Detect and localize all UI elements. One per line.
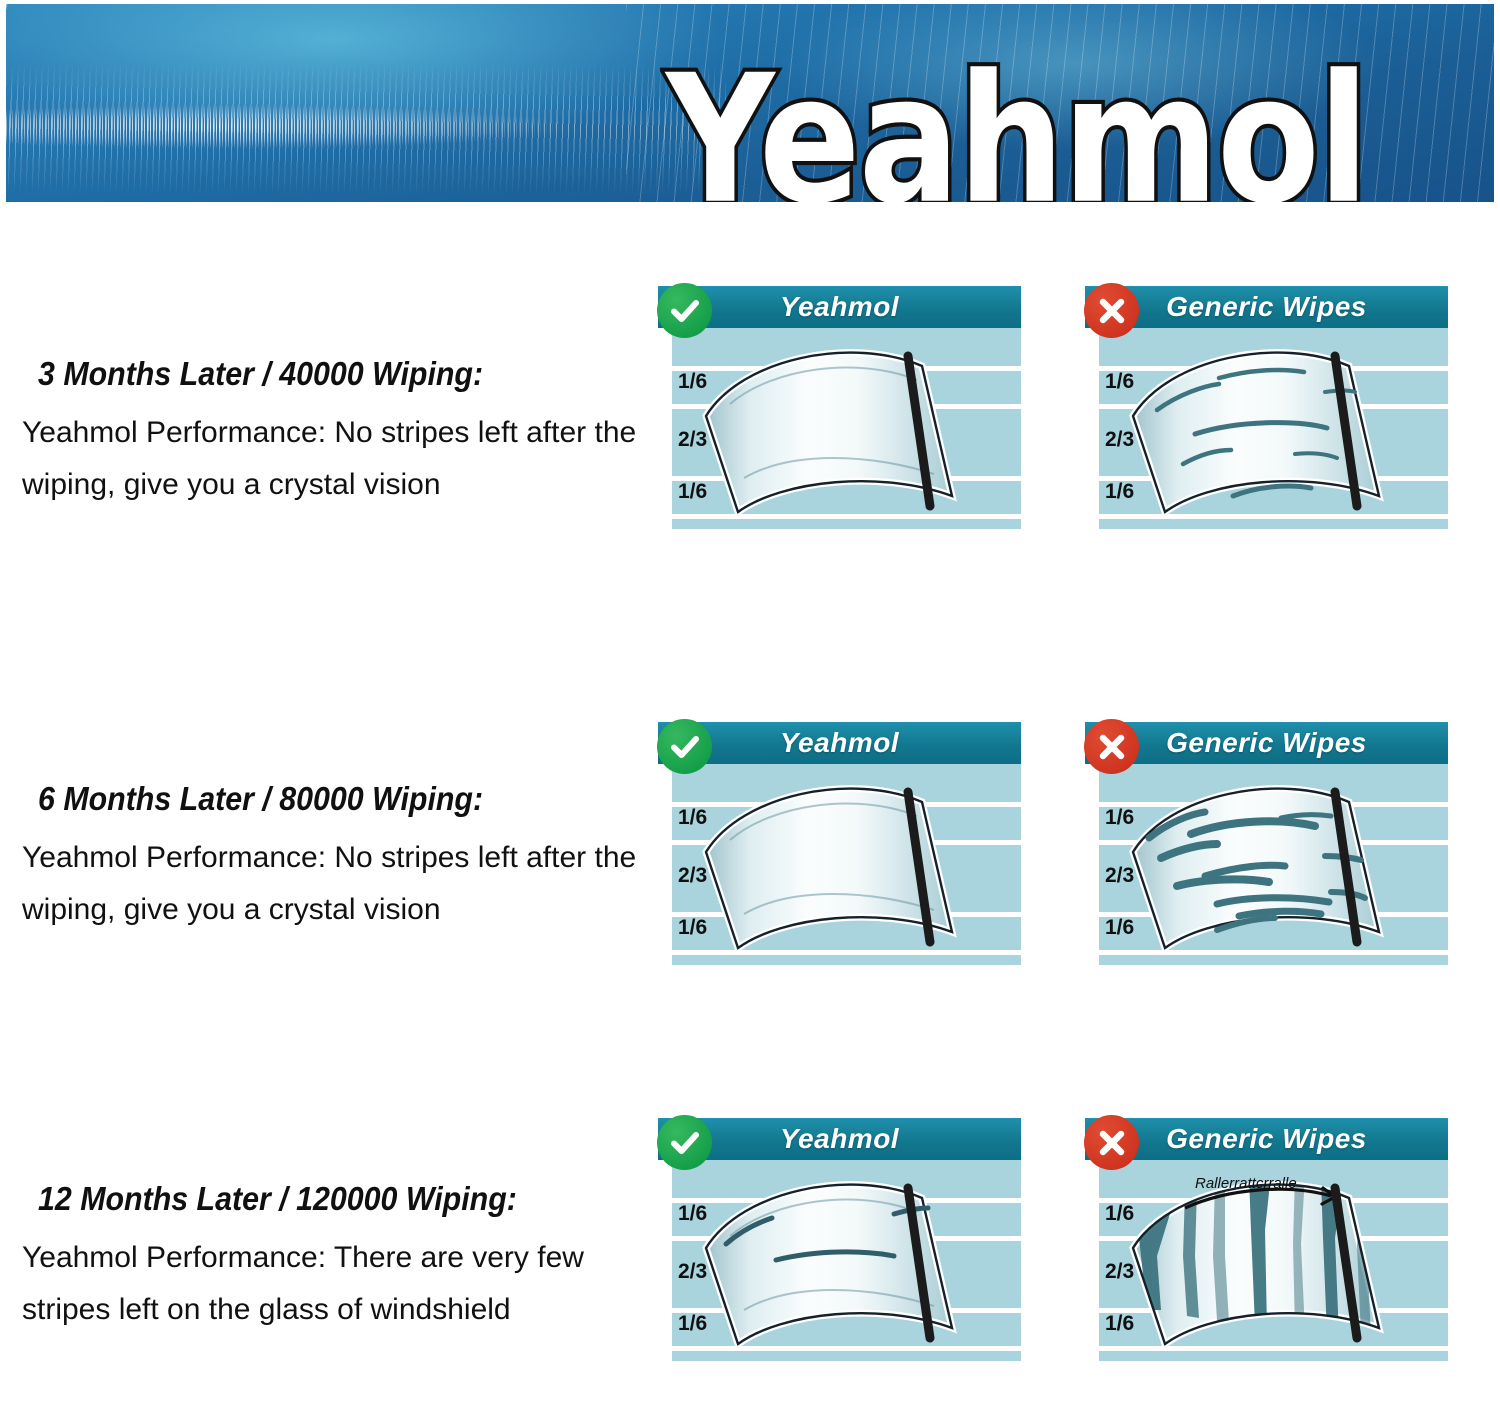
waveform-icon: [6, 92, 706, 162]
panel-title: Generic Wipes: [1085, 1118, 1448, 1160]
row-text-block: 6 Months Later / 80000 Wiping: Yeahmol P…: [22, 780, 672, 935]
check-icon: [657, 283, 712, 338]
panel-title: Yeahmol: [658, 722, 1021, 764]
windshield-wipe-arc: [672, 1160, 1021, 1361]
row-text-block: 3 Months Later / 40000 Wiping: Yeahmol P…: [22, 355, 672, 510]
cross-icon: [1084, 283, 1139, 338]
row-text-block: 12 Months Later / 120000 Wiping: Yeahmol…: [22, 1180, 672, 1335]
panel-body: 1/6 2/3 1/6: [1099, 1160, 1448, 1361]
panel-body: 1/6 2/3 1/6: [1099, 764, 1448, 965]
panel-body: 1/6 2/3 1/6: [672, 328, 1021, 529]
check-icon: [657, 719, 712, 774]
wipe-annotation: Rallerrattcrralle: [1195, 1175, 1297, 1192]
windshield-wipe-arc: [1099, 328, 1448, 529]
row-body: Yeahmol Performance: There are very few …: [22, 1232, 672, 1335]
row-body: Yeahmol Performance: No stripes left aft…: [22, 832, 672, 935]
panel-body: 1/6 2/3 1/6: [672, 1160, 1021, 1361]
windshield-wipe-arc: [672, 328, 1021, 529]
windshield-wipe-arc: Rallerrattcrralle: [1099, 1160, 1448, 1361]
row-title: 12 Months Later / 120000 Wiping:: [38, 1180, 621, 1218]
check-icon: [657, 1115, 712, 1170]
windshield-wipe-arc: [1099, 764, 1448, 965]
row-title: 6 Months Later / 80000 Wiping:: [38, 780, 621, 818]
panel-title: Yeahmol: [658, 286, 1021, 328]
windshield-wipe-arc: [672, 764, 1021, 965]
panel-body: 1/6 2/3 1/6: [672, 764, 1021, 965]
header-banner: Yeahmol: [6, 4, 1494, 202]
cross-icon: [1084, 719, 1139, 774]
row-title: 3 Months Later / 40000 Wiping:: [38, 355, 621, 393]
panel-body: 1/6 2/3 1/6: [1099, 328, 1448, 529]
panel-title: Yeahmol: [658, 1118, 1021, 1160]
brand-logo: Yeahmol: [666, 58, 1494, 202]
panel-title: Generic Wipes: [1085, 722, 1448, 764]
row-body: Yeahmol Performance: No stripes left aft…: [22, 407, 672, 510]
panel-title: Generic Wipes: [1085, 286, 1448, 328]
cross-icon: [1084, 1115, 1139, 1170]
